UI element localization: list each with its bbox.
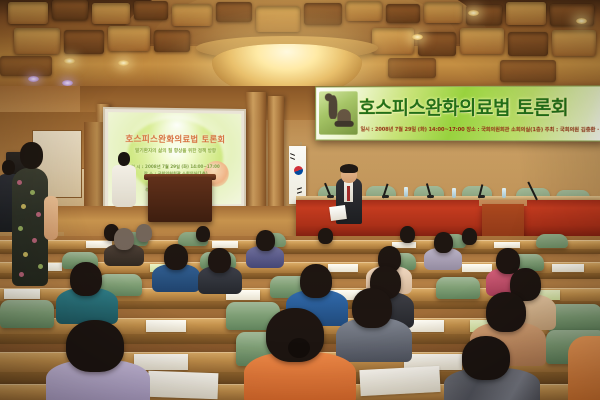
standing-attendee-head [20, 142, 43, 169]
audience-head [486, 292, 526, 332]
ceiling-coffer [388, 58, 436, 78]
audience-chair [436, 277, 480, 299]
audience-head [114, 228, 134, 250]
slide-title: 호스피스완화의료법 토론회 [108, 133, 241, 146]
microphone-base [427, 195, 434, 198]
ceiling-coffer [14, 28, 60, 54]
audience-head [434, 232, 453, 253]
audience-head [256, 230, 275, 251]
handout-paper [146, 320, 186, 332]
handout-paper [552, 264, 584, 272]
standing-attendee-arm [44, 196, 58, 240]
wall-pilaster [268, 96, 284, 212]
ceiling-coffer [460, 28, 504, 54]
downlight-icon [412, 34, 423, 40]
downlight-icon [64, 58, 75, 64]
ceiling-coffer [64, 30, 104, 54]
audience-head [300, 264, 332, 298]
handout-paper [4, 289, 40, 299]
ceiling-coffer [506, 2, 546, 25]
standing-person-head [118, 152, 130, 166]
downlight-icon [468, 10, 479, 16]
audience-head [70, 262, 102, 296]
handout-paper [462, 264, 492, 272]
water-bottle [404, 187, 408, 197]
ceiling-coffer [92, 3, 130, 24]
microphone-base [327, 195, 334, 198]
ceiling-coffer [550, 4, 594, 26]
audience-chair [536, 234, 568, 248]
audience-head [462, 228, 477, 245]
ceiling-coffer [508, 32, 548, 56]
downlight-icon [118, 60, 129, 66]
audience-head [196, 226, 210, 242]
ceiling-coffer [108, 26, 150, 51]
audience-head [318, 228, 333, 244]
banner-subtitle-text: 일시 : 2008년 7월 29일 (화) 14:00~17:00 장소 : 국… [361, 123, 600, 137]
foreground-attendee-head [66, 320, 124, 372]
audience-head [352, 288, 392, 328]
banner-title-text: 호스피스완화의료법 토론회 [359, 91, 600, 122]
ceiling-coffer [346, 1, 382, 21]
standing-person-head [2, 160, 15, 175]
water-bottle [502, 188, 506, 198]
ceiling-coffer [216, 2, 252, 22]
standing-attendee-body [12, 168, 48, 286]
handout-paper [328, 264, 358, 272]
coffered-wooden-ceiling [0, 0, 600, 92]
ceiling-coffer [0, 56, 52, 76]
downlight-icon [576, 18, 587, 24]
ceiling-coffer [500, 60, 556, 82]
water-bottle [452, 188, 456, 198]
foreground-attendee-head [462, 336, 510, 380]
standing-person-body [112, 165, 136, 207]
audience-head [136, 224, 152, 242]
handout-paper [148, 371, 219, 399]
upright-piano [148, 178, 212, 222]
hair-bun [288, 338, 310, 358]
microphone-base [382, 195, 389, 198]
audience-head [164, 244, 188, 270]
ceiling-coffer [552, 30, 596, 56]
handout-paper [212, 241, 238, 248]
ceiling-coffer [8, 2, 48, 24]
ceiling-coffer [386, 4, 420, 23]
ceiling-coffer [172, 4, 212, 26]
taeguk-circle-icon [294, 166, 303, 175]
ceiling-coffer [154, 30, 190, 52]
ceiling-coffer [134, 1, 168, 20]
ceiling-coffer [256, 6, 300, 32]
banner-photo-caregiver-icon [319, 91, 358, 134]
downlight-icon [28, 76, 39, 82]
ceiling-coffer [424, 2, 462, 23]
event-banner: 호스피스완화의료법 토론회 일시 : 2008년 7월 29일 (화) 14:0… [315, 85, 600, 141]
wall-pilaster [246, 92, 266, 214]
conference-hall-photo: 호스피스완화의료법 토론회 말기환자의 삶의 질 향상을 위한 정책 방향 일 … [0, 0, 600, 400]
handout-paper [359, 366, 440, 396]
ceiling-coffer [418, 32, 456, 56]
audience-head [208, 248, 231, 273]
speaker-tie [347, 186, 350, 201]
speaker-document [329, 205, 347, 221]
microphone-base [478, 195, 485, 198]
audience-head [400, 226, 415, 243]
audience-chair [0, 300, 54, 328]
ceiling-coffer [52, 0, 88, 20]
ceiling-coffer [304, 3, 342, 25]
speaker-hair [340, 164, 358, 173]
foreground-attendee-shoulders [568, 336, 600, 400]
ceiling-coffer [372, 28, 414, 54]
